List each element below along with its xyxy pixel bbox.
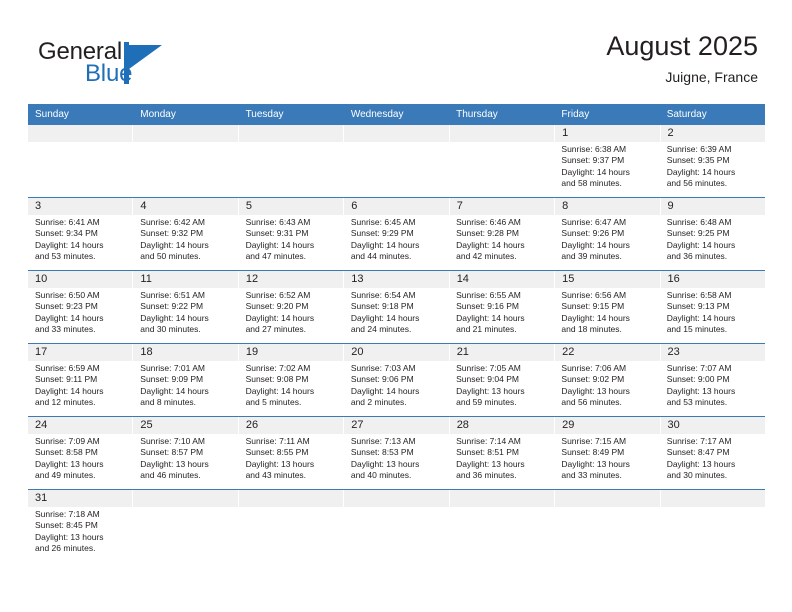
week-body: Sunrise: 7:18 AMSunset: 8:45 PMDaylight:… bbox=[28, 507, 765, 575]
day-detail-line: Sunrise: 6:52 AM bbox=[246, 290, 338, 301]
day-cell[interactable]: Sunrise: 6:39 AMSunset: 9:35 PMDaylight:… bbox=[660, 142, 765, 197]
day-detail-line: Sunrise: 6:51 AM bbox=[140, 290, 232, 301]
day-detail-line: Daylight: 14 hours bbox=[246, 240, 338, 251]
title-block: August 2025 Juigne, France bbox=[606, 30, 758, 87]
day-number[interactable]: 14 bbox=[450, 271, 555, 288]
day-detail-line: Daylight: 14 hours bbox=[351, 313, 443, 324]
day-detail-line: Daylight: 14 hours bbox=[246, 313, 338, 324]
day-number[interactable]: 18 bbox=[133, 344, 238, 361]
day-detail-line: Sunrise: 7:03 AM bbox=[351, 363, 443, 374]
day-number[interactable]: 6 bbox=[344, 198, 449, 215]
day-cell[interactable]: Sunrise: 6:55 AMSunset: 9:16 PMDaylight:… bbox=[449, 288, 554, 343]
day-detail-line: and 8 minutes. bbox=[140, 397, 232, 408]
day-number[interactable]: 29 bbox=[555, 417, 660, 434]
day-detail-line: Sunrise: 7:09 AM bbox=[35, 436, 127, 447]
calendar-week-row: 31Sunrise: 7:18 AMSunset: 8:45 PMDayligh… bbox=[28, 489, 765, 575]
day-detail-line: and 46 minutes. bbox=[140, 470, 232, 481]
day-detail-line: Sunset: 9:11 PM bbox=[35, 374, 127, 385]
day-detail-line: Daylight: 13 hours bbox=[561, 459, 653, 470]
day-detail-line: Sunset: 8:45 PM bbox=[35, 520, 127, 531]
day-number-empty bbox=[555, 490, 660, 507]
day-cell[interactable]: Sunrise: 7:17 AMSunset: 8:47 PMDaylight:… bbox=[660, 434, 765, 489]
day-cell[interactable]: Sunrise: 7:01 AMSunset: 9:09 PMDaylight:… bbox=[133, 361, 238, 416]
day-detail-line: Daylight: 13 hours bbox=[140, 459, 232, 470]
day-cell[interactable]: Sunrise: 7:15 AMSunset: 8:49 PMDaylight:… bbox=[554, 434, 659, 489]
day-detail-line: and 43 minutes. bbox=[246, 470, 338, 481]
day-number[interactable]: 16 bbox=[661, 271, 765, 288]
day-number[interactable]: 5 bbox=[239, 198, 344, 215]
calendar-week-row: 10111213141516Sunrise: 6:50 AMSunset: 9:… bbox=[28, 270, 765, 343]
day-detail-line: and 40 minutes. bbox=[351, 470, 443, 481]
day-detail-line: and 58 minutes. bbox=[561, 178, 653, 189]
brand-name-blue: Blue bbox=[85, 60, 132, 88]
day-cell-empty bbox=[344, 507, 449, 575]
day-detail-line: Sunrise: 6:55 AM bbox=[456, 290, 548, 301]
day-number[interactable]: 1 bbox=[555, 125, 660, 142]
day-detail-line: Daylight: 13 hours bbox=[35, 459, 127, 470]
day-detail-line: Sunrise: 6:59 AM bbox=[35, 363, 127, 374]
day-number[interactable]: 10 bbox=[28, 271, 133, 288]
day-detail-line: and 53 minutes. bbox=[35, 251, 127, 262]
day-detail-line: Sunrise: 7:01 AM bbox=[140, 363, 232, 374]
day-detail-line: Sunrise: 6:54 AM bbox=[351, 290, 443, 301]
calendar-week-row: 24252627282930Sunrise: 7:09 AMSunset: 8:… bbox=[28, 416, 765, 489]
day-detail-line: Daylight: 14 hours bbox=[35, 313, 127, 324]
day-detail-line: Daylight: 14 hours bbox=[456, 240, 548, 251]
day-detail-line: Daylight: 14 hours bbox=[140, 386, 232, 397]
day-cell[interactable]: Sunrise: 6:52 AMSunset: 9:20 PMDaylight:… bbox=[239, 288, 344, 343]
day-cell[interactable]: Sunrise: 7:03 AMSunset: 9:06 PMDaylight:… bbox=[344, 361, 449, 416]
day-detail-line: and 26 minutes. bbox=[35, 543, 127, 554]
day-number[interactable]: 30 bbox=[661, 417, 765, 434]
page-subtitle: Juigne, France bbox=[606, 67, 758, 87]
day-detail-line: Sunset: 9:22 PM bbox=[140, 301, 232, 312]
day-detail-line: Daylight: 13 hours bbox=[561, 386, 653, 397]
weekday-header-wednesday: Wednesday bbox=[344, 104, 449, 125]
day-cell[interactable]: Sunrise: 7:06 AMSunset: 9:02 PMDaylight:… bbox=[554, 361, 659, 416]
day-detail-line: Sunrise: 6:47 AM bbox=[561, 217, 653, 228]
day-detail-line: Daylight: 14 hours bbox=[561, 240, 653, 251]
day-detail-line: and 36 minutes. bbox=[667, 251, 759, 262]
day-number-empty bbox=[28, 125, 133, 142]
day-detail-line: and 47 minutes. bbox=[246, 251, 338, 262]
brand-logo[interactable]: General Blue bbox=[38, 38, 228, 90]
day-number[interactable]: 12 bbox=[239, 271, 344, 288]
calendar-page: General Blue August 2025 Juigne, France … bbox=[0, 0, 792, 612]
day-detail-line: and 21 minutes. bbox=[456, 324, 548, 335]
calendar-weeks: 12Sunrise: 6:38 AMSunset: 9:37 PMDayligh… bbox=[28, 125, 765, 575]
day-detail-line: Sunset: 8:49 PM bbox=[561, 447, 653, 458]
day-cell[interactable]: Sunrise: 6:38 AMSunset: 9:37 PMDaylight:… bbox=[554, 142, 659, 197]
day-cell[interactable]: Sunrise: 7:14 AMSunset: 8:51 PMDaylight:… bbox=[449, 434, 554, 489]
calendar-grid: SundayMondayTuesdayWednesdayThursdayFrid… bbox=[28, 104, 765, 575]
day-cell[interactable]: Sunrise: 6:43 AMSunset: 9:31 PMDaylight:… bbox=[239, 215, 344, 270]
day-detail-line: Sunset: 9:28 PM bbox=[456, 228, 548, 239]
weekday-header-friday: Friday bbox=[554, 104, 659, 125]
day-cell[interactable]: Sunrise: 7:07 AMSunset: 9:00 PMDaylight:… bbox=[660, 361, 765, 416]
day-detail-line: and 39 minutes. bbox=[561, 251, 653, 262]
day-cell[interactable]: Sunrise: 6:46 AMSunset: 9:28 PMDaylight:… bbox=[449, 215, 554, 270]
day-detail-line: Daylight: 14 hours bbox=[561, 167, 653, 178]
day-cell-empty bbox=[344, 142, 449, 197]
day-detail-line: Daylight: 13 hours bbox=[246, 459, 338, 470]
day-detail-line: Sunset: 9:08 PM bbox=[246, 374, 338, 385]
day-detail-line: Daylight: 14 hours bbox=[35, 240, 127, 251]
day-detail-line: Sunset: 9:09 PM bbox=[140, 374, 232, 385]
day-number[interactable]: 11 bbox=[133, 271, 238, 288]
day-detail-line: Sunset: 9:15 PM bbox=[561, 301, 653, 312]
day-cell[interactable]: Sunrise: 6:47 AMSunset: 9:26 PMDaylight:… bbox=[554, 215, 659, 270]
day-detail-line: Sunrise: 6:46 AM bbox=[456, 217, 548, 228]
day-cell[interactable]: Sunrise: 6:42 AMSunset: 9:32 PMDaylight:… bbox=[133, 215, 238, 270]
day-detail-line: Daylight: 14 hours bbox=[351, 386, 443, 397]
day-detail-line: Sunset: 9:23 PM bbox=[35, 301, 127, 312]
day-detail-line: and 56 minutes. bbox=[667, 178, 759, 189]
day-cell[interactable]: Sunrise: 6:56 AMSunset: 9:15 PMDaylight:… bbox=[554, 288, 659, 343]
week-date-strip: 10111213141516 bbox=[28, 271, 765, 288]
day-detail-line: Sunset: 9:06 PM bbox=[351, 374, 443, 385]
day-cell[interactable]: Sunrise: 6:59 AMSunset: 9:11 PMDaylight:… bbox=[28, 361, 133, 416]
page-header: General Blue August 2025 Juigne, France bbox=[0, 0, 792, 104]
day-number[interactable]: 28 bbox=[450, 417, 555, 434]
day-cell-empty bbox=[449, 507, 554, 575]
day-detail-line: Sunrise: 6:39 AM bbox=[667, 144, 759, 155]
day-detail-line: Sunset: 8:57 PM bbox=[140, 447, 232, 458]
day-detail-line: and 30 minutes. bbox=[140, 324, 232, 335]
day-cell[interactable]: Sunrise: 7:10 AMSunset: 8:57 PMDaylight:… bbox=[133, 434, 238, 489]
day-detail-line: Sunset: 9:34 PM bbox=[35, 228, 127, 239]
calendar-week-row: 12Sunrise: 6:38 AMSunset: 9:37 PMDayligh… bbox=[28, 125, 765, 197]
week-date-strip: 12 bbox=[28, 125, 765, 142]
weekday-header-row: SundayMondayTuesdayWednesdayThursdayFrid… bbox=[28, 104, 765, 125]
week-body: Sunrise: 6:59 AMSunset: 9:11 PMDaylight:… bbox=[28, 361, 765, 416]
page-title: August 2025 bbox=[606, 30, 758, 62]
day-cell[interactable]: Sunrise: 7:05 AMSunset: 9:04 PMDaylight:… bbox=[449, 361, 554, 416]
day-number[interactable]: 24 bbox=[28, 417, 133, 434]
day-number[interactable]: 19 bbox=[239, 344, 344, 361]
week-date-strip: 31 bbox=[28, 490, 765, 507]
day-number[interactable]: 31 bbox=[28, 490, 133, 507]
day-number[interactable]: 2 bbox=[661, 125, 765, 142]
day-detail-line: and 15 minutes. bbox=[667, 324, 759, 335]
week-body: Sunrise: 7:09 AMSunset: 8:58 PMDaylight:… bbox=[28, 434, 765, 489]
week-body: Sunrise: 6:41 AMSunset: 9:34 PMDaylight:… bbox=[28, 215, 765, 270]
day-cell[interactable]: Sunrise: 7:13 AMSunset: 8:53 PMDaylight:… bbox=[344, 434, 449, 489]
day-detail-line: Sunset: 8:58 PM bbox=[35, 447, 127, 458]
weekday-header-thursday: Thursday bbox=[449, 104, 554, 125]
day-detail-line: Sunset: 9:25 PM bbox=[667, 228, 759, 239]
week-date-strip: 24252627282930 bbox=[28, 417, 765, 434]
day-detail-line: Sunset: 9:20 PM bbox=[246, 301, 338, 312]
day-detail-line: Sunset: 9:32 PM bbox=[140, 228, 232, 239]
day-number[interactable]: 25 bbox=[133, 417, 238, 434]
day-detail-line: Daylight: 14 hours bbox=[561, 313, 653, 324]
day-cell-empty bbox=[239, 142, 344, 197]
day-detail-line: Sunset: 9:26 PM bbox=[561, 228, 653, 239]
day-cell-empty bbox=[660, 507, 765, 575]
day-number[interactable]: 15 bbox=[555, 271, 660, 288]
day-detail-line: Sunset: 9:16 PM bbox=[456, 301, 548, 312]
day-cell[interactable]: Sunrise: 6:41 AMSunset: 9:34 PMDaylight:… bbox=[28, 215, 133, 270]
day-number-empty bbox=[344, 125, 449, 142]
day-detail-line: Daylight: 14 hours bbox=[351, 240, 443, 251]
day-number[interactable]: 22 bbox=[555, 344, 660, 361]
day-number[interactable]: 23 bbox=[661, 344, 765, 361]
day-number-empty bbox=[133, 125, 238, 142]
day-number[interactable]: 9 bbox=[661, 198, 765, 215]
day-detail-line: and 2 minutes. bbox=[351, 397, 443, 408]
day-detail-line: Sunset: 9:02 PM bbox=[561, 374, 653, 385]
day-detail-line: Sunrise: 6:41 AM bbox=[35, 217, 127, 228]
day-number[interactable]: 8 bbox=[555, 198, 660, 215]
day-number[interactable]: 27 bbox=[344, 417, 449, 434]
day-detail-line: Sunset: 8:55 PM bbox=[246, 447, 338, 458]
day-detail-line: and 59 minutes. bbox=[456, 397, 548, 408]
day-number[interactable]: 17 bbox=[28, 344, 133, 361]
day-detail-line: Sunset: 8:51 PM bbox=[456, 447, 548, 458]
day-detail-line: and 56 minutes. bbox=[561, 397, 653, 408]
weekday-header-saturday: Saturday bbox=[660, 104, 765, 125]
day-number-empty bbox=[344, 490, 449, 507]
week-body: Sunrise: 6:50 AMSunset: 9:23 PMDaylight:… bbox=[28, 288, 765, 343]
day-detail-line: Sunrise: 7:17 AM bbox=[667, 436, 759, 447]
day-detail-line: Daylight: 14 hours bbox=[667, 313, 759, 324]
day-detail-line: Daylight: 14 hours bbox=[667, 240, 759, 251]
day-number[interactable]: 3 bbox=[28, 198, 133, 215]
day-detail-line: and 12 minutes. bbox=[35, 397, 127, 408]
day-detail-line: Daylight: 14 hours bbox=[667, 167, 759, 178]
day-number-empty bbox=[450, 125, 555, 142]
day-number-empty bbox=[661, 490, 765, 507]
day-cell[interactable]: Sunrise: 6:54 AMSunset: 9:18 PMDaylight:… bbox=[344, 288, 449, 343]
day-detail-line: and 44 minutes. bbox=[351, 251, 443, 262]
day-cell[interactable]: Sunrise: 6:58 AMSunset: 9:13 PMDaylight:… bbox=[660, 288, 765, 343]
day-detail-line: Sunset: 9:37 PM bbox=[561, 155, 653, 166]
day-detail-line: Sunrise: 6:43 AM bbox=[246, 217, 338, 228]
day-detail-line: Sunset: 9:29 PM bbox=[351, 228, 443, 239]
day-detail-line: Sunrise: 7:02 AM bbox=[246, 363, 338, 374]
day-detail-line: and 30 minutes. bbox=[667, 470, 759, 481]
weekday-header-sunday: Sunday bbox=[28, 104, 133, 125]
day-detail-line: and 33 minutes. bbox=[35, 324, 127, 335]
day-cell[interactable]: Sunrise: 7:11 AMSunset: 8:55 PMDaylight:… bbox=[239, 434, 344, 489]
day-detail-line: Daylight: 13 hours bbox=[351, 459, 443, 470]
day-cell-empty bbox=[239, 507, 344, 575]
calendar-week-row: 17181920212223Sunrise: 6:59 AMSunset: 9:… bbox=[28, 343, 765, 416]
day-detail-line: Daylight: 14 hours bbox=[456, 313, 548, 324]
day-detail-line: Sunset: 9:04 PM bbox=[456, 374, 548, 385]
day-cell[interactable]: Sunrise: 7:18 AMSunset: 8:45 PMDaylight:… bbox=[28, 507, 133, 575]
day-number-empty bbox=[239, 490, 344, 507]
weekday-header-monday: Monday bbox=[133, 104, 238, 125]
day-detail-line: Daylight: 13 hours bbox=[456, 386, 548, 397]
day-cell[interactable]: Sunrise: 7:09 AMSunset: 8:58 PMDaylight:… bbox=[28, 434, 133, 489]
day-number-empty bbox=[133, 490, 238, 507]
day-detail-line: Sunrise: 6:58 AM bbox=[667, 290, 759, 301]
day-detail-line: and 24 minutes. bbox=[351, 324, 443, 335]
day-detail-line: Sunset: 9:31 PM bbox=[246, 228, 338, 239]
day-number[interactable]: 20 bbox=[344, 344, 449, 361]
day-detail-line: Sunset: 8:47 PM bbox=[667, 447, 759, 458]
day-detail-line: Daylight: 14 hours bbox=[140, 313, 232, 324]
day-cell-empty bbox=[28, 142, 133, 197]
day-detail-line: Sunrise: 7:05 AM bbox=[456, 363, 548, 374]
day-cell[interactable]: Sunrise: 6:51 AMSunset: 9:22 PMDaylight:… bbox=[133, 288, 238, 343]
day-detail-line: Sunrise: 7:18 AM bbox=[35, 509, 127, 520]
day-detail-line: Sunrise: 6:48 AM bbox=[667, 217, 759, 228]
day-cell-empty bbox=[133, 507, 238, 575]
day-detail-line: Sunrise: 7:11 AM bbox=[246, 436, 338, 447]
day-detail-line: and 53 minutes. bbox=[667, 397, 759, 408]
day-detail-line: and 5 minutes. bbox=[246, 397, 338, 408]
day-cell[interactable]: Sunrise: 6:50 AMSunset: 9:23 PMDaylight:… bbox=[28, 288, 133, 343]
day-number[interactable]: 7 bbox=[450, 198, 555, 215]
day-detail-line: Sunset: 9:35 PM bbox=[667, 155, 759, 166]
day-detail-line: Sunset: 9:00 PM bbox=[667, 374, 759, 385]
day-detail-line: and 50 minutes. bbox=[140, 251, 232, 262]
weekday-header-tuesday: Tuesday bbox=[239, 104, 344, 125]
day-detail-line: Sunrise: 6:50 AM bbox=[35, 290, 127, 301]
day-detail-line: Sunrise: 6:45 AM bbox=[351, 217, 443, 228]
day-detail-line: Daylight: 13 hours bbox=[667, 386, 759, 397]
day-number[interactable]: 26 bbox=[239, 417, 344, 434]
day-cell-empty bbox=[133, 142, 238, 197]
day-detail-line: Daylight: 13 hours bbox=[35, 532, 127, 543]
day-detail-line: Sunrise: 7:15 AM bbox=[561, 436, 653, 447]
day-number-empty bbox=[450, 490, 555, 507]
day-detail-line: Daylight: 14 hours bbox=[35, 386, 127, 397]
day-detail-line: and 18 minutes. bbox=[561, 324, 653, 335]
day-detail-line: Daylight: 13 hours bbox=[667, 459, 759, 470]
day-detail-line: and 27 minutes. bbox=[246, 324, 338, 335]
week-date-strip: 3456789 bbox=[28, 198, 765, 215]
day-detail-line: Sunrise: 7:06 AM bbox=[561, 363, 653, 374]
day-cell[interactable]: Sunrise: 6:48 AMSunset: 9:25 PMDaylight:… bbox=[660, 215, 765, 270]
day-detail-line: and 42 minutes. bbox=[456, 251, 548, 262]
day-detail-line: Sunrise: 7:14 AM bbox=[456, 436, 548, 447]
day-number-empty bbox=[239, 125, 344, 142]
day-detail-line: Sunset: 8:53 PM bbox=[351, 447, 443, 458]
day-detail-line: Daylight: 13 hours bbox=[456, 459, 548, 470]
day-detail-line: Sunrise: 6:38 AM bbox=[561, 144, 653, 155]
day-cell-empty bbox=[554, 507, 659, 575]
day-detail-line: Sunset: 9:13 PM bbox=[667, 301, 759, 312]
day-detail-line: Sunset: 9:18 PM bbox=[351, 301, 443, 312]
day-detail-line: Sunrise: 7:10 AM bbox=[140, 436, 232, 447]
day-detail-line: and 36 minutes. bbox=[456, 470, 548, 481]
day-detail-line: Sunrise: 6:42 AM bbox=[140, 217, 232, 228]
day-detail-line: and 33 minutes. bbox=[561, 470, 653, 481]
day-detail-line: Sunrise: 7:07 AM bbox=[667, 363, 759, 374]
day-number[interactable]: 13 bbox=[344, 271, 449, 288]
day-cell[interactable]: Sunrise: 7:02 AMSunset: 9:08 PMDaylight:… bbox=[239, 361, 344, 416]
day-cell[interactable]: Sunrise: 6:45 AMSunset: 9:29 PMDaylight:… bbox=[344, 215, 449, 270]
day-detail-line: Daylight: 14 hours bbox=[140, 240, 232, 251]
day-detail-line: Daylight: 14 hours bbox=[246, 386, 338, 397]
day-number[interactable]: 21 bbox=[450, 344, 555, 361]
day-detail-line: Sunrise: 7:13 AM bbox=[351, 436, 443, 447]
day-detail-line: and 49 minutes. bbox=[35, 470, 127, 481]
day-number[interactable]: 4 bbox=[133, 198, 238, 215]
day-detail-line: Sunrise: 6:56 AM bbox=[561, 290, 653, 301]
week-date-strip: 17181920212223 bbox=[28, 344, 765, 361]
day-cell-empty bbox=[449, 142, 554, 197]
week-body: Sunrise: 6:38 AMSunset: 9:37 PMDaylight:… bbox=[28, 142, 765, 197]
calendar-week-row: 3456789Sunrise: 6:41 AMSunset: 9:34 PMDa… bbox=[28, 197, 765, 270]
